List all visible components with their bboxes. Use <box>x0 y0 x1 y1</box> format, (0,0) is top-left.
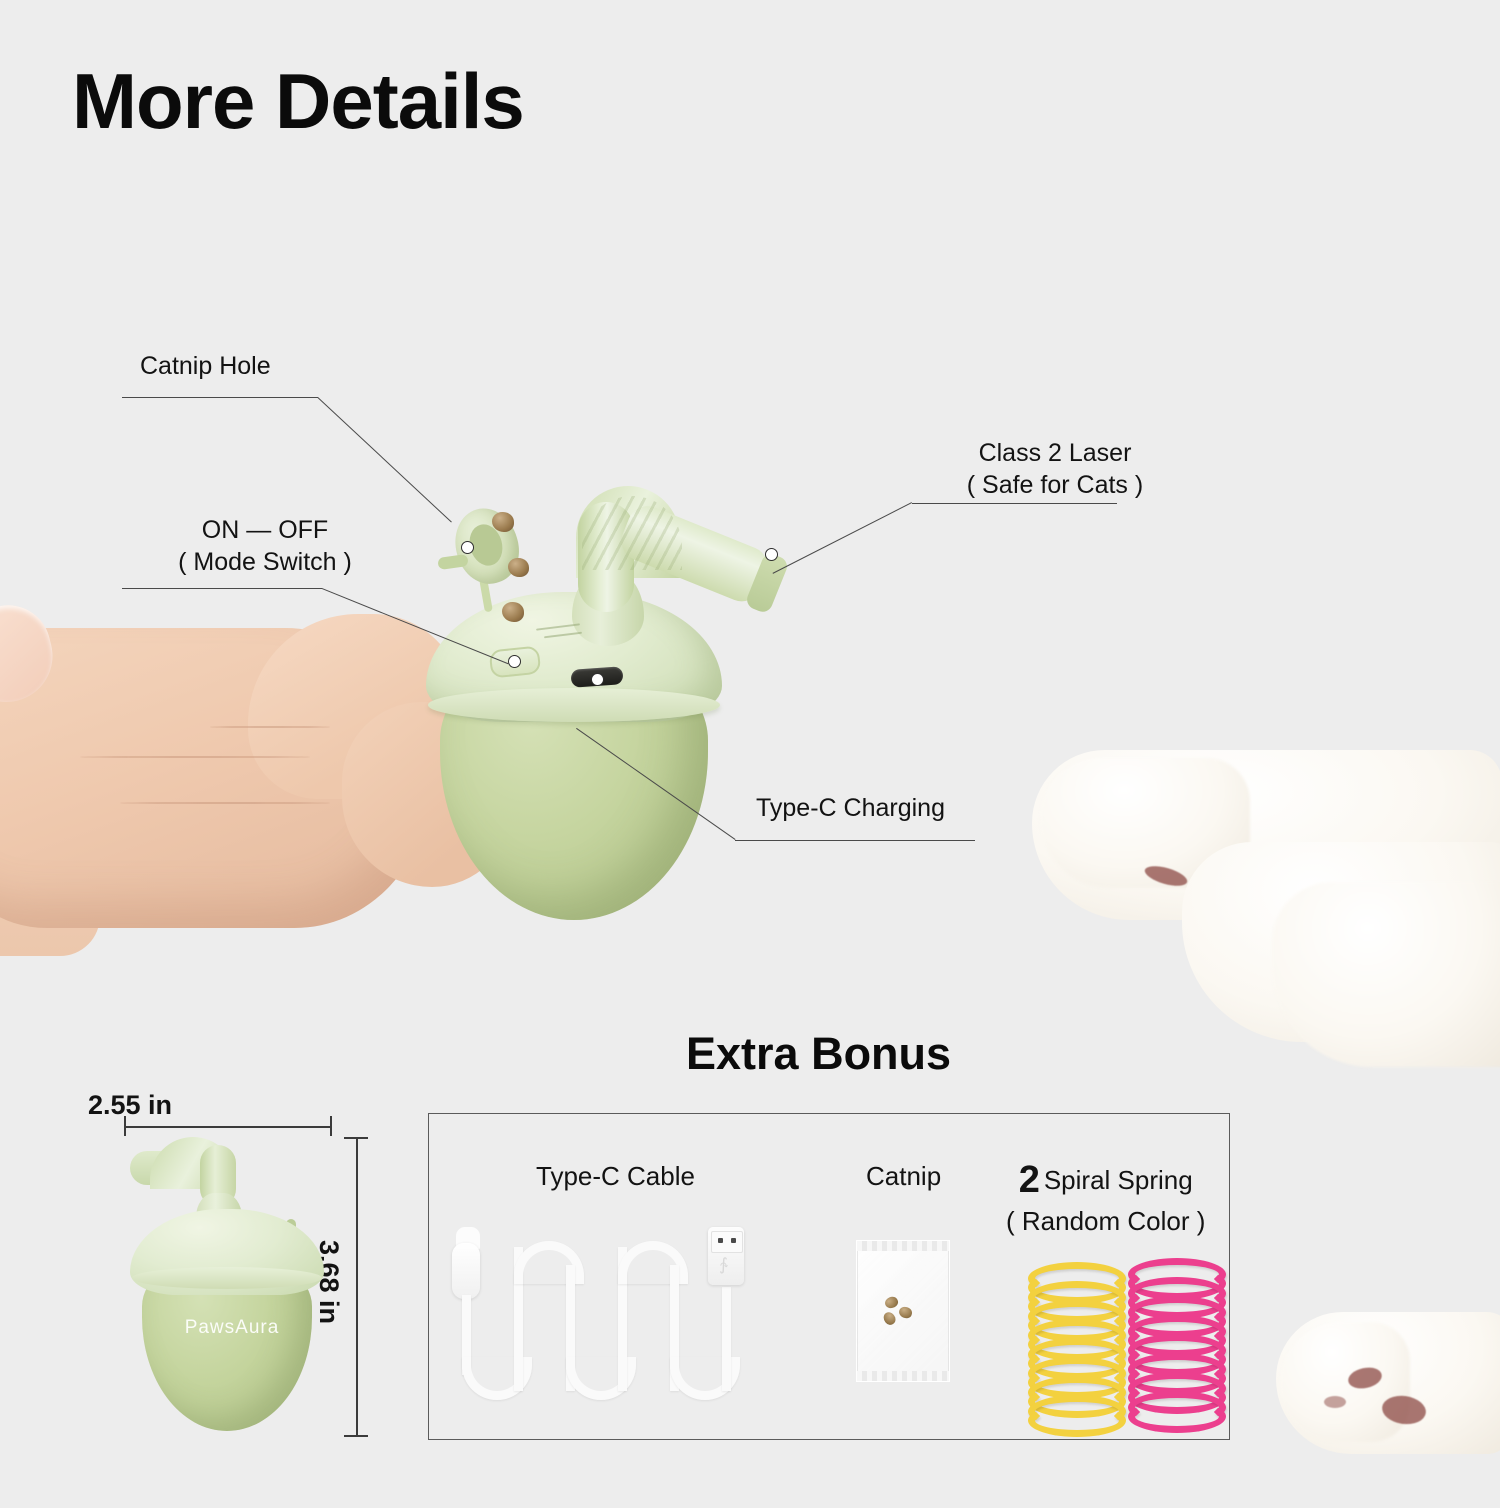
callout-catnip-hole-dot <box>461 541 474 554</box>
paw-lower-toes <box>1280 1322 1410 1442</box>
usb-c-plug <box>452 1243 480 1299</box>
mini-cap-ring <box>132 1267 322 1289</box>
usb-a-pin <box>718 1238 723 1243</box>
callout-mode-switch-line1: ON — OFF <box>130 514 400 546</box>
spring-line1: 2Spiral Spring <box>1006 1156 1205 1205</box>
catnip-seed <box>881 1310 898 1327</box>
spiral-spring-pink <box>1128 1258 1212 1418</box>
catnip-bag <box>856 1240 950 1382</box>
product-dimension-figure: PawsAura <box>112 1135 332 1435</box>
spring-coil <box>1128 1400 1226 1433</box>
cat-paw-upper <box>1032 742 1500 1042</box>
callout-laser-dot <box>765 548 778 561</box>
dimension-width-line <box>124 1126 332 1128</box>
catnip-seed <box>898 1306 913 1320</box>
callout-catnip-hole-line <box>122 397 318 398</box>
catnip-pellet <box>492 512 514 532</box>
dimension-height-tick-bottom <box>344 1435 368 1437</box>
dimension-width-tick-right <box>330 1116 332 1136</box>
spring-count: 2 <box>1019 1159 1040 1201</box>
paw-lower-bean <box>1324 1396 1346 1408</box>
callout-laser: Class 2 Laser ( Safe for Cats ) <box>930 437 1180 501</box>
spiral-spring-yellow <box>1028 1262 1112 1422</box>
brand-logo: PawsAura <box>152 1317 312 1339</box>
cable-wire-segment <box>722 1287 731 1391</box>
callout-mode-switch-dot <box>508 655 521 668</box>
bonus-item-label-spring: 2Spiral Spring ( Random Color ) <box>1006 1156 1205 1239</box>
callout-charging-label: Type-C Charging <box>756 792 945 824</box>
catnip-seed <box>883 1295 899 1310</box>
palm-crease <box>210 726 330 728</box>
bonus-section-title: Extra Bonus <box>686 1031 951 1076</box>
cat-paw-lower <box>1262 1308 1500 1508</box>
usb-a-slot <box>711 1231 743 1253</box>
callout-charging-line <box>735 840 975 841</box>
callout-laser-line <box>912 503 1117 504</box>
callout-mode-switch-line2: ( Mode Switch ) <box>130 546 400 578</box>
bag-seam-bottom <box>857 1371 949 1381</box>
spring-sublabel: ( Random Color ) <box>1006 1205 1205 1239</box>
usb-a-pin <box>731 1238 736 1243</box>
catnip-pellet <box>508 558 529 577</box>
product-device <box>418 480 888 930</box>
type-c-cable-illustration: ∱ <box>440 1225 810 1425</box>
dimension-height-line <box>356 1137 358 1437</box>
callout-laser-line2: ( Safe for Cats ) <box>930 469 1180 501</box>
callout-catnip-hole-leader <box>317 397 452 523</box>
callout-catnip-hole-label: Catnip Hole <box>140 350 271 382</box>
spring-coil <box>1028 1404 1126 1437</box>
page-title: More Details <box>72 62 524 140</box>
bonus-item-label-catnip: Catnip <box>866 1160 941 1194</box>
dimension-width-label: 2.55 in <box>88 1090 172 1121</box>
paw-upper-shoulder <box>1272 882 1500 1067</box>
spring-text: Spiral Spring <box>1044 1165 1193 1195</box>
cap-ring <box>428 688 720 722</box>
dimension-height-tick-top <box>344 1137 368 1139</box>
bag-seam-top <box>857 1241 949 1251</box>
catnip-pellet <box>502 602 524 622</box>
usb-icon: ∱ <box>719 1255 728 1275</box>
bonus-item-label-cable: Type-C Cable <box>536 1160 695 1194</box>
callout-charging-dot <box>591 673 604 686</box>
callout-mode-switch-line <box>122 588 322 589</box>
palm-crease <box>80 756 310 758</box>
palm-crease <box>120 802 330 804</box>
callout-laser-line1: Class 2 Laser <box>930 437 1180 469</box>
dimension-width-tick-left <box>124 1116 126 1136</box>
detail-page: More Details Catnip Hole <box>0 0 1500 1500</box>
callout-mode-switch: ON — OFF ( Mode Switch ) <box>130 514 400 578</box>
